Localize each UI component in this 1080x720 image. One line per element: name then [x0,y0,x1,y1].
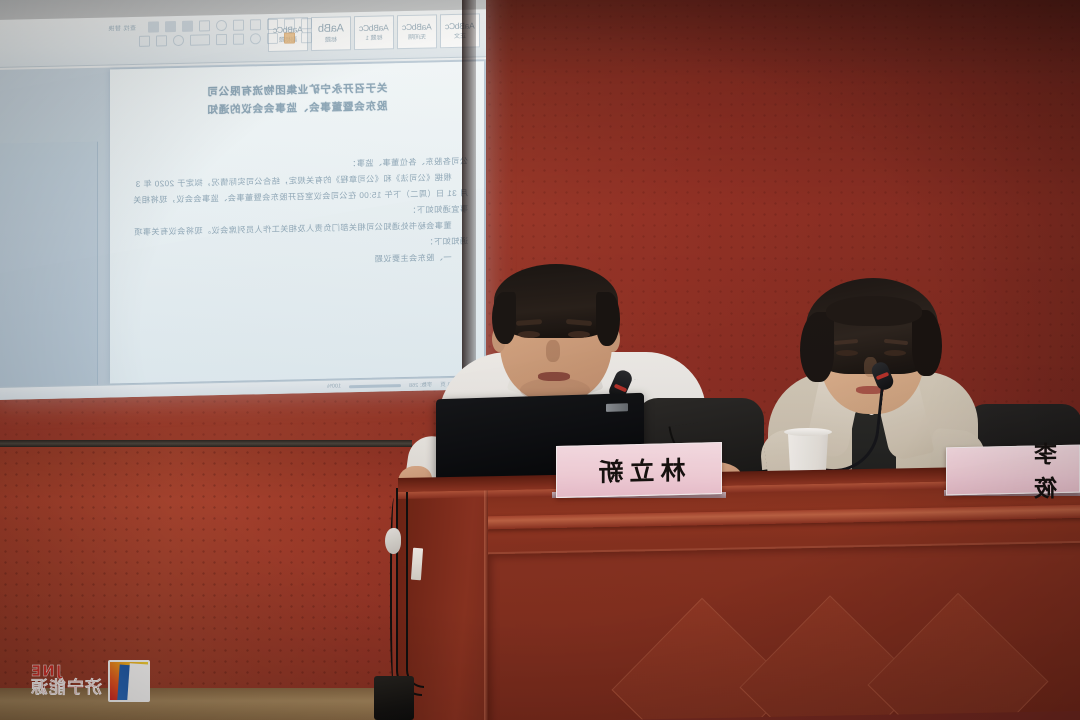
style-name: 无间隔 [408,34,426,40]
find-icon[interactable] [173,35,184,46]
speaker-eye-right [568,331,590,338]
perforation-texture-lower [0,447,415,690]
watermark-logo-group: JNE 济宁能源 [30,660,150,702]
cable-clip [385,528,401,554]
podium-diamond-inlay [867,593,1048,720]
word-ribbon[interactable]: AaBbCc 正文 AaBbCc 无间隔 AaBbCc 标题 1 AaBb 标题 [0,9,486,68]
document-paragraph: 根据《公司法》和《公司章程》的有关规定，结合公司实际情况，拟定于 2020 年 … [126,169,468,224]
podium [398,479,1080,720]
speaker-mouth [538,372,570,381]
placard-name-left: 林立新 [593,451,686,489]
increase-indent-icon[interactable] [233,20,244,31]
speaker-hair-side-right [596,292,620,346]
style-sample: AaBbCc [402,23,431,32]
conference-room-photo: AaBbCc 正文 AaBbCc 无间隔 AaBbCc 标题 1 AaBb 标题 [0,0,1080,720]
attendee-eye-left [836,350,858,356]
zoom-slider[interactable] [349,384,401,388]
logo-swoosh-inner [127,663,150,702]
jne-logo-icon [108,660,150,702]
align-left-icon[interactable] [182,21,193,32]
status-word-count: 字数: 268 [409,380,432,389]
paper-cup-rim [784,428,832,436]
text-effects-icon[interactable] [250,33,261,44]
numbered-list-icon[interactable] [284,18,295,29]
floor-equipment-box [374,676,414,720]
cable-strand [390,498,400,688]
name-placard-right: 李 筱 [946,445,1080,496]
laptop-logo-badge [606,403,628,412]
multilevel-list-icon[interactable] [267,19,278,30]
podium-left-corner [484,490,488,720]
bullet-list-icon[interactable] [301,18,312,29]
screen-right-bezel [462,0,476,396]
speaker-eye-left [518,331,540,338]
select-icon[interactable] [139,36,150,47]
name-placard-left: 林立新 [556,442,722,498]
document-body: 公司各股东、各位董事、监事： 根据《公司法》和《公司章程》的有关规定，结合公司实… [126,140,468,272]
style-chip[interactable]: AaBbCc 标题 1 [354,15,394,50]
wall-lower-panel [0,447,415,690]
style-name: 标题 [325,38,337,44]
shading-icon[interactable] [284,32,295,43]
attendee-eye-right [884,350,906,356]
podium-rail-moulding [398,505,1080,531]
document-canvas[interactable]: 关于召开永宁矿业集团物流有限公司 股东会暨董事会、监事会会议的通知 公司各股东、… [0,59,486,400]
projection-screen: AaBbCc 正文 AaBbCc 无间隔 AaBbCc 标题 1 AaBb 标题 [0,0,486,400]
cable-strand [406,492,424,688]
style-name: 标题 1 [366,35,383,41]
decrease-indent-icon[interactable] [250,19,261,30]
style-chip[interactable]: AaBbCc 无间隔 [397,14,437,49]
watermark-chinese: 济宁能源 [30,680,102,698]
style-chip[interactable]: AaBb 标题 [311,16,351,51]
podium-recessed-panel [486,541,1080,720]
document-right-margin [0,142,98,400]
document-page[interactable]: 关于召开永宁矿业集团物流有限公司 股东会暨董事会、监事会会议的通知 公司各股东、… [110,61,484,383]
font-color-icon[interactable] [233,34,244,45]
attendee-fringe [826,296,922,326]
status-zoom-level: 100% [327,383,341,389]
line-spacing-icon[interactable] [301,32,312,43]
style-sample: AaBbCc [359,24,388,33]
placard-name-right: 李 筱 [947,435,1079,506]
speaker-hair-side-left [492,292,516,344]
show-marks-icon[interactable] [199,20,210,31]
ribbon-icon-cluster[interactable]: 查找 替换 [14,15,314,66]
align-center-icon[interactable] [165,21,176,32]
borders-icon[interactable] [267,33,278,44]
style-sample: AaBb [318,23,344,35]
clear-formatting-icon[interactable] [190,34,210,45]
logo-swoosh-blue [116,665,150,702]
align-right-icon[interactable] [148,21,159,32]
projected-document-window: AaBbCc 正文 AaBbCc 无间隔 AaBbCc 标题 1 AaBb 标题 [0,0,486,400]
watermark-text: JNE 济宁能源 [30,664,102,698]
sort-icon[interactable] [216,20,227,31]
replace-icon[interactable] [156,35,167,46]
speaker-nose [546,340,560,362]
editing-group-label: 查找 替换 [108,23,136,33]
highlight-icon[interactable] [216,34,227,45]
